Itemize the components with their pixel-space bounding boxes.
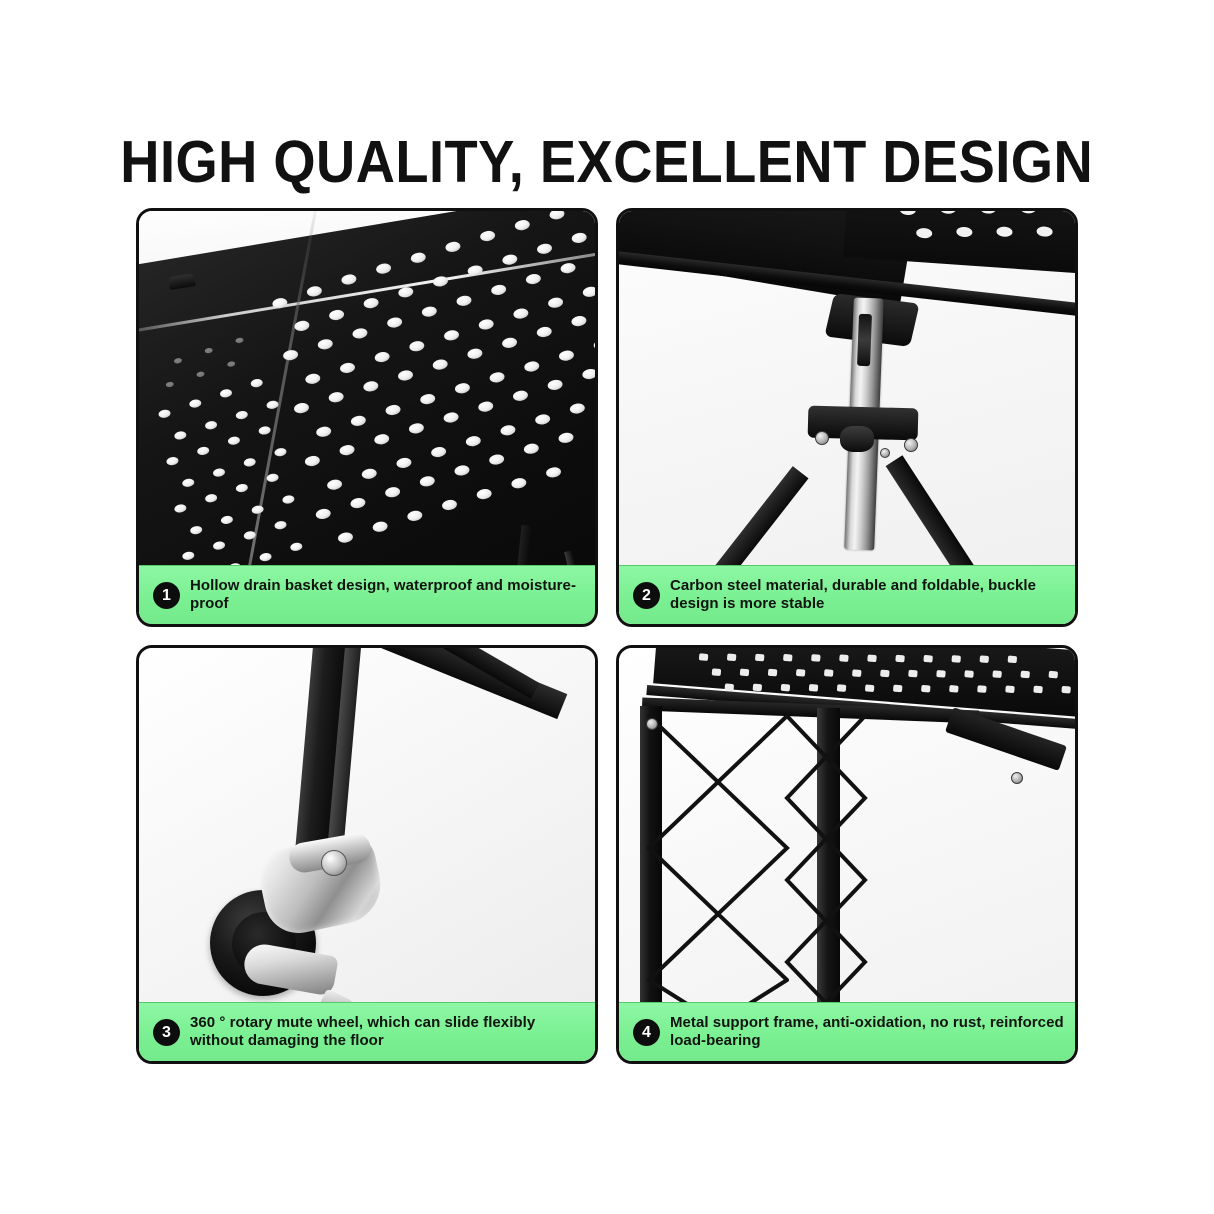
feature-caption-4: 4 Metal support frame, anti-oxidation, n… [619, 1002, 1075, 1061]
feature-caption-3: 3 360 ° rotary mute wheel, which can sli… [139, 1002, 595, 1061]
tabletop-drain-holes [884, 211, 1066, 269]
feature-caption-2: 2 Carbon steel material, durable and fol… [619, 565, 1075, 624]
support-frame-photo [619, 648, 1075, 1061]
frame-rivet [1011, 772, 1023, 784]
x-cross-bracing [619, 648, 1075, 1061]
feature-caption-1: 1 Hollow drain basket design, waterproof… [139, 565, 595, 624]
feature-number-badge-3: 3 [153, 1019, 180, 1046]
feature-caption-text-4: Metal support frame, anti-oxidation, no … [670, 1014, 1065, 1050]
tube-height-slot [857, 314, 872, 366]
feature-card-1: 1 Hollow drain basket design, waterproof… [136, 208, 598, 627]
feature-caption-text-1: Hollow drain basket design, waterproof a… [190, 577, 585, 613]
folding-buckle-joint-photo [619, 211, 1075, 624]
feature-caption-text-3: 360 ° rotary mute wheel, which can slide… [190, 1014, 585, 1050]
feature-card-2: 2 Carbon steel material, durable and fol… [616, 208, 1078, 627]
feature-number-badge-4: 4 [633, 1019, 660, 1046]
feature-caption-text-2: Carbon steel material, durable and folda… [670, 577, 1065, 613]
feature-card-4: 4 Metal support frame, anti-oxidation, n… [616, 645, 1078, 1064]
feature-card-3: 3 360 ° rotary mute wheel, which can sli… [136, 645, 598, 1064]
feature-number-badge-1: 1 [153, 582, 180, 609]
feature-number-badge-2: 2 [633, 582, 660, 609]
caster-wheel-photo [139, 648, 595, 1061]
buckle-cam-lever [840, 426, 874, 452]
infographic-page: HIGH QUALITY, EXCELLENT DESIGN [0, 0, 1214, 1214]
page-title-container: HIGH QUALITY, EXCELLENT DESIGN [0, 131, 1214, 193]
feature-grid: 1 Hollow drain basket design, waterproof… [136, 208, 1078, 1064]
perforated-tabletop-photo [139, 211, 595, 624]
page-title: HIGH QUALITY, EXCELLENT DESIGN [121, 131, 1094, 193]
